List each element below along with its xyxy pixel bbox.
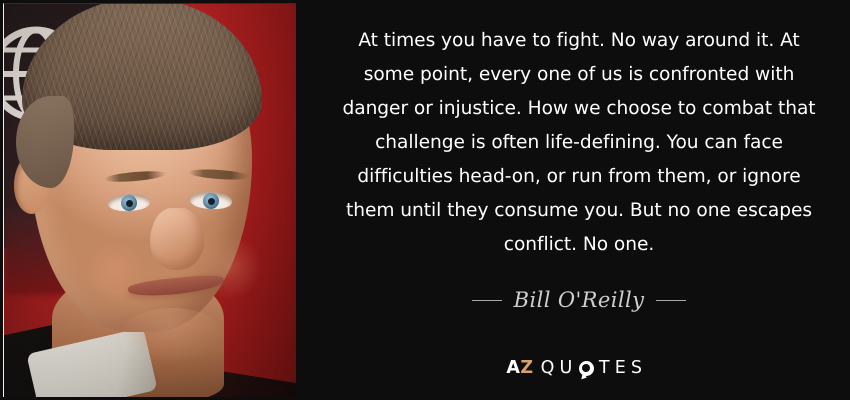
eyebrow-left [104,169,167,183]
pupil-left [126,200,133,207]
eye-right [190,191,233,210]
iris-left [121,195,138,212]
portrait-frame [3,3,296,397]
quote-card: At times you have to fight. No way aroun… [0,0,850,400]
brand-quotes-wordmark: Q U T E S [541,360,644,378]
eye-left [108,193,151,212]
brand-letter-z: Z [520,358,533,378]
cheek-right [196,234,262,300]
eyebrow-right [188,168,250,181]
brand-letter-s: S [631,360,644,378]
brand-letter-q: Q [541,360,556,378]
portrait-panel [0,0,298,400]
brand-letter-a: A [506,358,520,378]
quote-panel: At times you have to fight. No way aroun… [298,0,850,400]
nose [150,208,204,270]
chin [122,308,222,360]
iris-right [203,193,220,210]
brand-letter-t: T [599,360,611,378]
brand-letter-e: E [615,360,628,378]
quote-text: At times you have to fight. No way aroun… [338,24,820,262]
attribution-name: Bill O'Reilly [514,288,645,312]
portrait-photo [4,4,296,397]
attribution: Bill O'Reilly [338,288,820,312]
attribution-rule-left [472,300,502,301]
pupil-right [208,198,215,205]
portrait-subject [4,4,296,397]
brand-az-wordmark: AZ [506,360,533,378]
speech-bubble-o-icon [579,361,594,376]
az-quotes-logo[interactable]: AZ Q U T E S [298,360,850,378]
attribution-rule-right [656,300,686,301]
brand-letter-u: U [560,360,574,378]
